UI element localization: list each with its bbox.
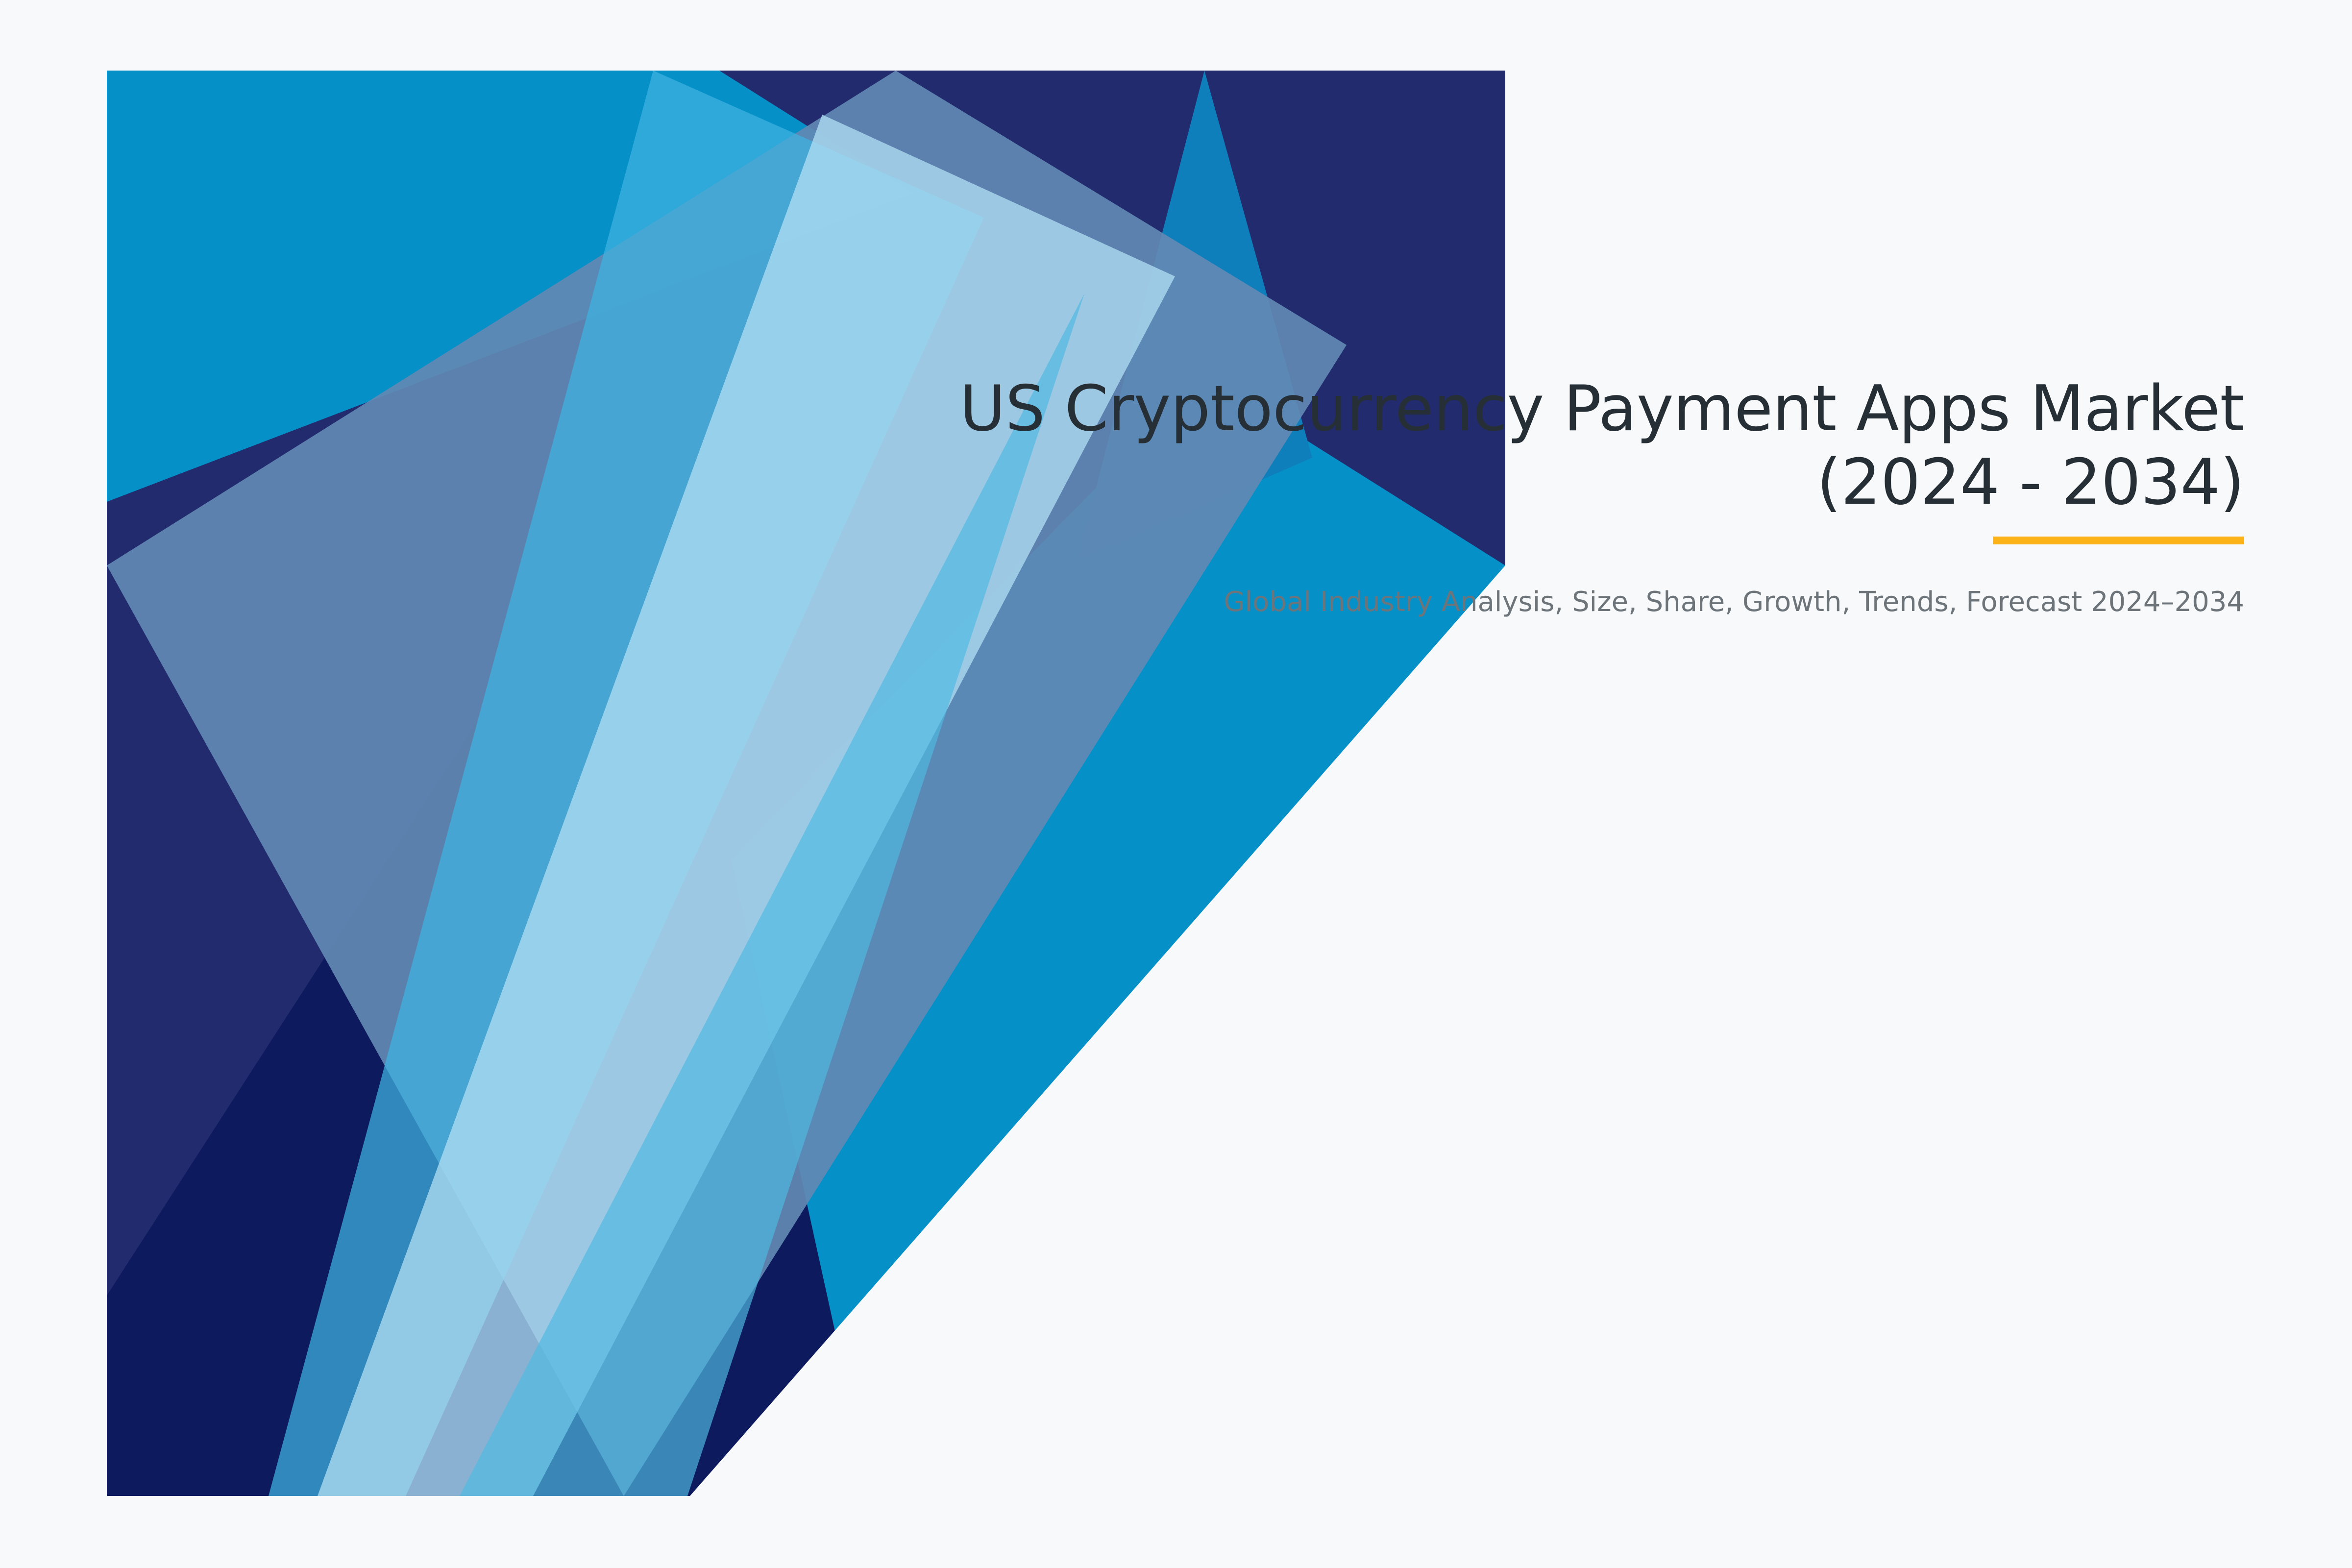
abstract-geometric-banner [107,71,1505,1496]
title-accent-underline [1993,537,2244,544]
title-wrap: US Cryptocurrency Payment Apps Market (2… [931,372,2244,519]
cover-text-block: US Cryptocurrency Payment Apps Market (2… [931,372,2244,620]
page-title: US Cryptocurrency Payment Apps Market (2… [931,372,2244,519]
banner-svg [107,71,1505,1496]
report-cover-page: US Cryptocurrency Payment Apps Market (2… [0,0,2352,1568]
page-subtitle: Global Industry Analysis, Size, Share, G… [931,519,2244,620]
